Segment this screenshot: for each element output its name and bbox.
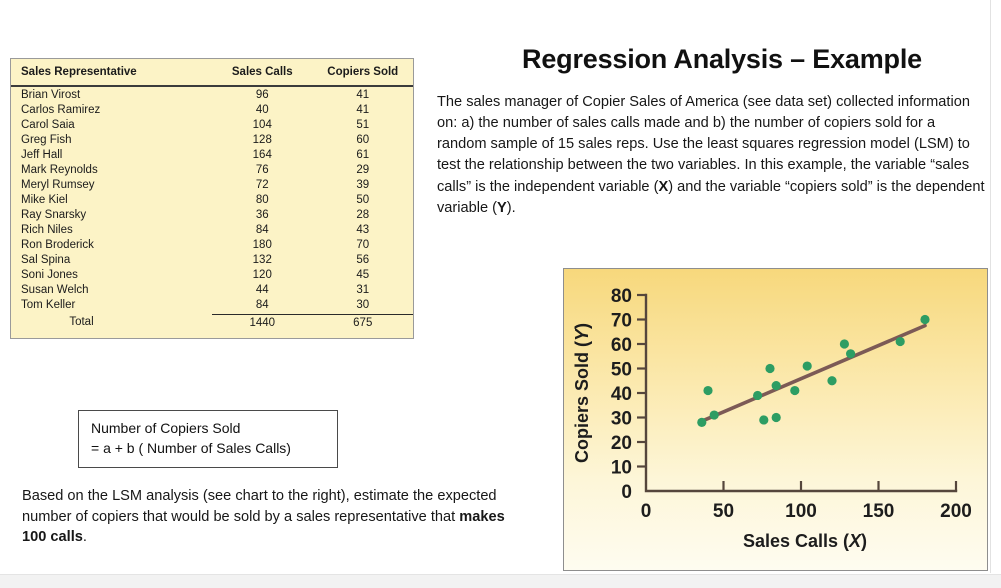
cell-rep-name: Ray Snarsky: [11, 207, 212, 222]
table-total-row: Total1440675: [11, 314, 413, 338]
formula-line-1: Number of Copiers Sold: [91, 418, 327, 438]
table-row: Mark Reynolds7629: [11, 162, 413, 177]
cell-rep-name: Greg Fish: [11, 132, 212, 147]
intro-paragraph: The sales manager of Copier Sales of Ame…: [437, 92, 987, 219]
table-row: Ray Snarsky3628: [11, 207, 413, 222]
cell-rep-name: Carol Saia: [11, 117, 212, 132]
cell-sales-calls: 80: [212, 192, 313, 207]
slide-right-margin: [991, 0, 1001, 574]
y-tick-label: 20: [611, 433, 632, 454]
data-point: [759, 415, 768, 424]
table-row: Sal Spina13256: [11, 252, 413, 267]
table-row: Carlos Ramirez4041: [11, 102, 413, 117]
cell-copiers-sold: 41: [313, 86, 414, 102]
cell-sales-calls: 84: [212, 222, 313, 237]
cell-copiers-sold: 29: [313, 162, 414, 177]
x-tick-label: 200: [940, 501, 972, 522]
table-row: Brian Virost9641: [11, 86, 413, 102]
data-point: [846, 349, 855, 358]
cell-total-calls: 1440: [212, 314, 313, 338]
cell-copiers-sold: 51: [313, 117, 414, 132]
table-row: Greg Fish12860: [11, 132, 413, 147]
data-point: [803, 361, 812, 370]
cell-copiers-sold: 60: [313, 132, 414, 147]
x-tick-label: 100: [785, 501, 817, 522]
column-header-sold: Copiers Sold: [313, 59, 414, 86]
data-point: [896, 337, 905, 346]
cell-copiers-sold: 45: [313, 267, 414, 282]
cell-copiers-sold: 30: [313, 297, 414, 314]
cell-rep-name: Brian Virost: [11, 86, 212, 102]
data-point: [772, 413, 781, 422]
cell-copiers-sold: 28: [313, 207, 414, 222]
cell-rep-name: Mike Kiel: [11, 192, 212, 207]
cell-sales-calls: 180: [212, 237, 313, 252]
cell-copiers-sold: 50: [313, 192, 414, 207]
column-header-calls: Sales Calls: [212, 59, 313, 86]
column-header-name: Sales Representative: [11, 59, 212, 86]
scatter-plot: 01020304050607080050100150200Sales Calls…: [564, 269, 987, 570]
table-body: Brian Virost9641Carlos Ramirez4041Carol …: [11, 86, 413, 338]
table-row: Jeff Hall16461: [11, 147, 413, 162]
table-row: Mike Kiel8050: [11, 192, 413, 207]
prompt-text-part-2: .: [83, 529, 87, 545]
cell-rep-name: Jeff Hall: [11, 147, 212, 162]
y-tick-label: 0: [621, 482, 632, 503]
data-point: [920, 315, 929, 324]
cell-sales-calls: 40: [212, 102, 313, 117]
table-row: Meryl Rumsey7239: [11, 177, 413, 192]
cell-sales-calls: 84: [212, 297, 313, 314]
cell-sales-calls: 36: [212, 207, 313, 222]
y-tick-label: 60: [611, 335, 632, 356]
window-bottom-band: [0, 574, 1001, 588]
prompt-text-part-1: Based on the LSM analysis (see chart to …: [22, 488, 497, 525]
cell-rep-name: Mark Reynolds: [11, 162, 212, 177]
cell-sales-calls: 120: [212, 267, 313, 282]
cell-copiers-sold: 61: [313, 147, 414, 162]
table-row: Ron Broderick18070: [11, 237, 413, 252]
cell-sales-calls: 128: [212, 132, 313, 147]
cell-copiers-sold: 41: [313, 102, 414, 117]
cell-total-sold: 675: [313, 314, 414, 338]
sales-data-table: Sales Representative Sales Calls Copiers…: [10, 58, 414, 339]
x-tick-label: 0: [641, 501, 652, 522]
cell-copiers-sold: 39: [313, 177, 414, 192]
data-point: [772, 381, 781, 390]
cell-total-label: Total: [11, 314, 212, 338]
data-point: [697, 418, 706, 427]
cell-sales-calls: 96: [212, 86, 313, 102]
cell-copiers-sold: 31: [313, 282, 414, 297]
data-point: [710, 410, 719, 419]
y-axis-title: Copiers Sold (Y): [572, 323, 592, 463]
cell-copiers-sold: 70: [313, 237, 414, 252]
data-point: [790, 386, 799, 395]
y-tick-label: 80: [611, 286, 632, 307]
cell-rep-name: Tom Keller: [11, 297, 212, 314]
data-point: [827, 376, 836, 385]
intro-bold-x: X: [658, 179, 668, 195]
table-row: Tom Keller8430: [11, 297, 413, 314]
cell-rep-name: Carlos Ramirez: [11, 102, 212, 117]
x-axis-title: Sales Calls (X): [743, 531, 867, 551]
data-point: [765, 364, 774, 373]
cell-rep-name: Susan Welch: [11, 282, 212, 297]
cell-copiers-sold: 56: [313, 252, 414, 267]
intro-bold-y: Y: [497, 200, 507, 216]
x-tick-label: 150: [863, 501, 895, 522]
cell-sales-calls: 44: [212, 282, 313, 297]
cell-rep-name: Meryl Rumsey: [11, 177, 212, 192]
y-tick-label: 70: [611, 311, 632, 332]
y-tick-label: 10: [611, 458, 632, 479]
table-row: Rich Niles8443: [11, 222, 413, 237]
cell-sales-calls: 104: [212, 117, 313, 132]
cell-rep-name: Ron Broderick: [11, 237, 212, 252]
table-header-row: Sales Representative Sales Calls Copiers…: [11, 59, 413, 86]
cell-rep-name: Soni Jones: [11, 267, 212, 282]
x-tick-label: 50: [713, 501, 734, 522]
table-row: Susan Welch4431: [11, 282, 413, 297]
y-tick-label: 40: [611, 384, 632, 405]
data-point: [753, 391, 762, 400]
data-point: [703, 386, 712, 395]
slide-surface: Sales Representative Sales Calls Copiers…: [0, 0, 991, 573]
y-tick-label: 30: [611, 409, 632, 430]
chart-axes: [646, 295, 956, 491]
cell-rep-name: Sal Spina: [11, 252, 212, 267]
intro-part-3: ).: [507, 200, 516, 216]
table-row: Soni Jones12045: [11, 267, 413, 282]
cell-rep-name: Rich Niles: [11, 222, 212, 237]
page-title: Regression Analysis – Example: [462, 44, 982, 75]
cell-sales-calls: 132: [212, 252, 313, 267]
cell-copiers-sold: 43: [313, 222, 414, 237]
cell-sales-calls: 72: [212, 177, 313, 192]
data-point: [840, 339, 849, 348]
y-tick-label: 50: [611, 360, 632, 381]
regression-trendline: [702, 326, 925, 422]
question-prompt: Based on the LSM analysis (see chart to …: [22, 486, 532, 548]
scatter-chart-panel: 01020304050607080050100150200Sales Calls…: [563, 268, 988, 571]
cell-sales-calls: 164: [212, 147, 313, 162]
formula-line-2: = a + b ( Number of Sales Calls): [91, 438, 327, 458]
cell-sales-calls: 76: [212, 162, 313, 177]
table-row: Carol Saia10451: [11, 117, 413, 132]
regression-formula-box: Number of Copiers Sold = a + b ( Number …: [78, 410, 338, 468]
